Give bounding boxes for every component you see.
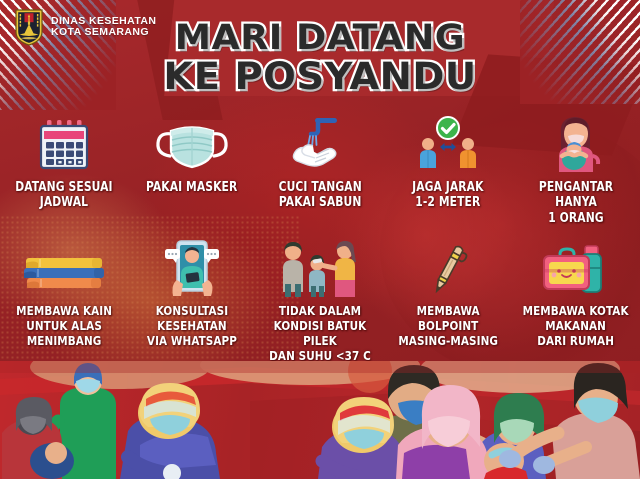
posyandu-photo-collage — [0, 361, 640, 479]
caption-line: DARI RUMAH — [523, 334, 629, 349]
protocol-row-2: MEMBAWA KAIN UNTUK ALAS MENIMBANG — [0, 240, 640, 363]
protocol-caption: MEMBAWA KOTAK MAKANAN DARI RUMAH — [523, 304, 629, 349]
caption-line: CUCI TANGAN — [278, 180, 361, 195]
caption-line: KESEHATAN — [147, 319, 237, 334]
poster-root: DINAS KESEHATAN KOTA SEMARANG MARI DATAN… — [0, 0, 640, 479]
protocol-item-consult: KONSULTASI KESEHATAN VIA WHATSAPP — [128, 240, 256, 363]
title-line-2: KE POSYANDU — [0, 59, 640, 95]
protocol-caption: JAGA JARAK 1-2 METER — [412, 180, 483, 211]
temperature-check-icon — [272, 240, 368, 298]
protocol-icon-grid: DATANG SESUAI JADWAL — [0, 112, 640, 363]
protocol-item-schedule: DATANG SESUAI JADWAL — [0, 112, 128, 226]
protocol-caption: PAKAI MASKER — [146, 180, 237, 195]
caption-line: 1 ORANG — [517, 211, 635, 226]
handwash-faucet-icon — [285, 112, 355, 174]
phone-consult-icon — [153, 240, 231, 298]
protocol-item-one-escort: PENGANTAR HANYA 1 ORANG — [512, 112, 640, 226]
calendar-icon — [35, 112, 93, 174]
lunchbox-thermos-icon — [538, 240, 614, 298]
protocol-caption: TIDAK DALAM KONDISI BATUK PILEK DAN SUHU… — [261, 304, 379, 363]
pen-icon — [418, 240, 478, 298]
protocol-caption: PENGANTAR HANYA 1 ORANG — [517, 180, 635, 226]
caption-line: BOLPOINT — [398, 319, 498, 334]
protocol-item-handwash: CUCI TANGAN PAKAI SABUN — [256, 112, 384, 226]
title-line-1: MARI DATANG — [0, 22, 640, 56]
protocol-item-mask: PAKAI MASKER — [128, 112, 256, 226]
caption-line: JADWAL — [15, 195, 112, 210]
caption-line: 1-2 METER — [412, 195, 483, 210]
caption-line: MEMBAWA KAIN — [16, 304, 112, 319]
page-title: MARI DATANG KE POSYANDU — [0, 22, 640, 94]
protocol-item-distance: JAGA JARAK 1-2 METER — [384, 112, 512, 226]
caption-line: DATANG SESUAI — [15, 180, 112, 195]
protocol-item-cloth: MEMBAWA KAIN UNTUK ALAS MENIMBANG — [0, 240, 128, 363]
protocol-item-no-fever: TIDAK DALAM KONDISI BATUK PILEK DAN SUHU… — [256, 240, 384, 363]
folded-cloth-icon — [18, 240, 110, 298]
protocol-caption: DATANG SESUAI JADWAL — [15, 180, 112, 211]
caption-line: JAGA JARAK — [412, 180, 483, 195]
caption-line: KONDISI BATUK PILEK — [261, 319, 379, 349]
protocol-caption: CUCI TANGAN PAKAI SABUN — [278, 180, 361, 211]
caption-line: PENGANTAR HANYA — [517, 180, 635, 211]
protocol-caption: MEMBAWA KAIN UNTUK ALAS MENIMBANG — [16, 304, 112, 349]
protocol-item-pen: MEMBAWA BOLPOINT MASING-MASING — [384, 240, 512, 363]
caption-line: KONSULTASI — [147, 304, 237, 319]
caption-line: UNTUK ALAS — [16, 319, 112, 334]
caption-line: TIDAK DALAM — [261, 304, 379, 319]
caption-line: MEMBAWA KOTAK — [523, 304, 629, 319]
worker-blue-ppe-yellow-hood — [120, 383, 220, 479]
caption-line: MENIMBANG — [16, 334, 112, 349]
protocol-row-1: DATANG SESUAI JADWAL — [0, 112, 640, 226]
face-mask-icon — [155, 112, 229, 174]
caption-line: VIA WHATSAPP — [147, 334, 237, 349]
caption-line: PAKAI MASKER — [146, 180, 237, 195]
protocol-item-lunchbox: MEMBAWA KOTAK MAKANAN DARI RUMAH — [512, 240, 640, 363]
caption-line: PAKAI SABUN — [278, 195, 361, 210]
social-distance-icon — [415, 112, 481, 174]
mother-baby-icon — [543, 112, 609, 174]
caption-line: MEMBAWA — [398, 304, 498, 319]
protocol-caption: MEMBAWA BOLPOINT MASING-MASING — [398, 304, 498, 349]
protocol-caption: KONSULTASI KESEHATAN VIA WHATSAPP — [147, 304, 237, 349]
caption-line: MASING-MASING — [398, 334, 498, 349]
caption-line: MAKANAN — [523, 319, 629, 334]
